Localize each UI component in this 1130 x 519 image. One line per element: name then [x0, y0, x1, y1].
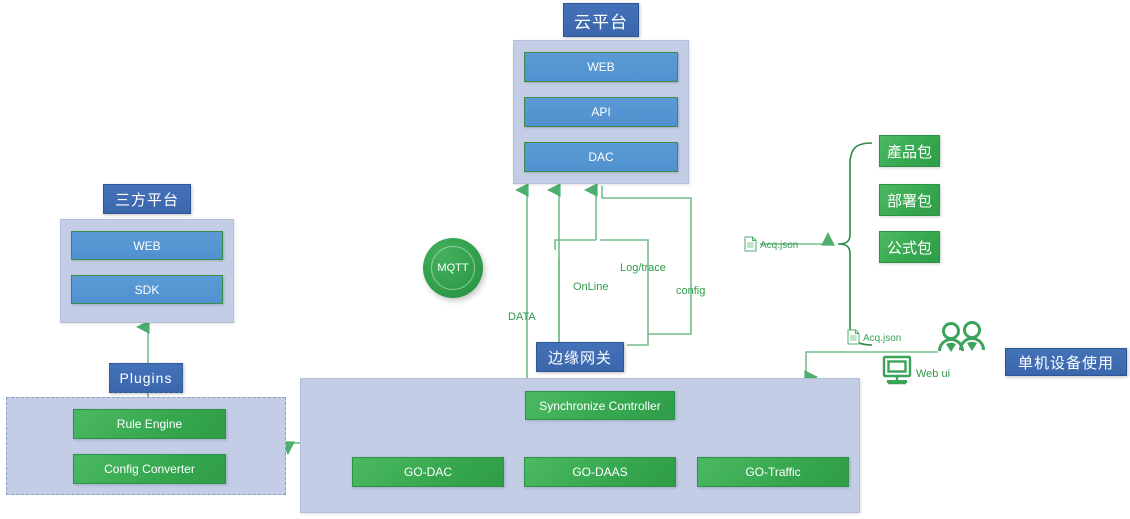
flow-label-config: config — [676, 285, 705, 297]
third-party-platform-title: 三方平台 — [103, 184, 191, 214]
service-go-traffic-label: GO-Traffic — [745, 465, 800, 479]
document-icon — [744, 236, 757, 255]
edge-gateway-title: 边缘网关 — [536, 342, 624, 372]
monitor-icon — [881, 354, 913, 391]
users-icon — [936, 320, 988, 365]
service-go-traffic[interactable]: GO-Traffic — [697, 457, 849, 487]
web-ui-label-text: Web ui — [916, 368, 950, 380]
acq-json-webui-label: Acq.json — [863, 333, 901, 344]
package-product-label: 產品包 — [887, 141, 932, 162]
service-go-daas-label: GO-DAAS — [572, 465, 627, 479]
package-formula-label: 公式包 — [887, 237, 932, 258]
plugin-config-converter-label: Config Converter — [104, 462, 195, 476]
mqtt-label: MQTT — [437, 262, 468, 274]
flow-label-log-trace-text: Log/trace — [620, 262, 666, 274]
cloud-item-web-label: WEB — [587, 60, 614, 74]
flow-label-log-trace: Log/trace — [620, 262, 666, 274]
cloud-item-dac-label: DAC — [588, 150, 613, 164]
flow-label-config-text: config — [676, 285, 705, 297]
cloud-platform-title: 云平台 — [563, 3, 639, 37]
standalone-device-title: 单机设备使用 — [1005, 348, 1127, 376]
plugins-title-text: Plugins — [120, 370, 173, 386]
plugin-rule-engine-label: Rule Engine — [117, 417, 182, 431]
service-go-dac-label: GO-DAC — [404, 465, 452, 479]
flow-label-online-text: OnLine — [573, 281, 608, 293]
edge-gateway-title-text: 边缘网关 — [548, 347, 612, 368]
document-icon — [847, 329, 860, 348]
third-party-item-web[interactable]: WEB — [71, 231, 223, 260]
package-deploy-label: 部署包 — [887, 190, 932, 211]
package-brace — [838, 143, 872, 345]
synchronize-controller-label: Synchronize Controller — [539, 399, 660, 413]
third-party-item-web-label: WEB — [133, 239, 160, 253]
acq-json-packages: Acq.json — [744, 236, 798, 255]
cloud-item-dac[interactable]: DAC — [524, 142, 678, 172]
flow-label-data: DATA — [508, 311, 536, 323]
flow-label-online: OnLine — [573, 281, 608, 293]
web-ui-label: Web ui — [916, 368, 950, 380]
mqtt-broker[interactable]: MQTT — [423, 238, 483, 298]
third-party-platform-title-text: 三方平台 — [115, 189, 179, 210]
mqtt-inner-ring: MQTT — [431, 246, 475, 290]
flow-label-data-text: DATA — [508, 311, 536, 323]
standalone-device-title-text: 单机设备使用 — [1018, 352, 1114, 373]
third-party-item-sdk-label: SDK — [135, 283, 160, 297]
synchronize-controller[interactable]: Synchronize Controller — [525, 391, 675, 420]
cloud-item-web[interactable]: WEB — [524, 52, 678, 82]
service-go-dac[interactable]: GO-DAC — [352, 457, 504, 487]
package-formula[interactable]: 公式包 — [879, 231, 940, 263]
third-party-item-sdk[interactable]: SDK — [71, 275, 223, 304]
plugins-title: Plugins — [109, 363, 183, 393]
acq-json-packages-label: Acq.json — [760, 240, 798, 251]
acq-json-webui: Acq.json — [847, 329, 901, 348]
plugin-rule-engine[interactable]: Rule Engine — [73, 409, 226, 439]
service-go-daas[interactable]: GO-DAAS — [524, 457, 676, 487]
plugin-config-converter[interactable]: Config Converter — [73, 454, 226, 484]
cloud-item-api-label: API — [591, 105, 610, 119]
package-product[interactable]: 產品包 — [879, 135, 940, 167]
architecture-diagram: 云平台 WEB API DAC 三方平台 WEB SDK Plugins Rul… — [0, 0, 1130, 519]
cloud-item-api[interactable]: API — [524, 97, 678, 127]
package-deploy[interactable]: 部署包 — [879, 184, 940, 216]
cloud-platform-title-text: 云平台 — [574, 8, 628, 33]
